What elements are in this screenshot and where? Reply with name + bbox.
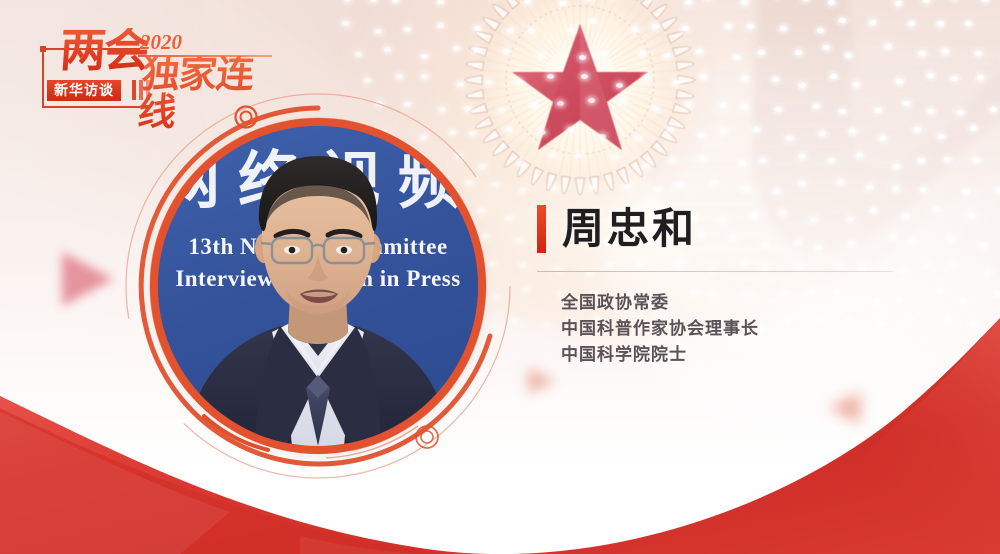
ceiling-light — [802, 0, 809, 1]
ceiling-light — [775, 107, 782, 112]
ceiling-light — [437, 23, 444, 28]
ceiling-light — [786, 136, 793, 141]
ceiling-light — [421, 54, 428, 59]
ceiling-light — [823, 45, 830, 50]
ceiling-light — [741, 76, 748, 81]
ceiling-light — [799, 83, 806, 88]
ceiling-light — [885, 44, 892, 49]
guest-title-line-2: 中国科普作家协会理事长 — [561, 316, 937, 342]
ceiling-light — [375, 29, 382, 34]
ceiling-light — [975, 51, 982, 56]
ceiling-light — [700, 156, 707, 161]
ceiling-light — [799, 154, 806, 159]
ceiling-light — [914, 127, 921, 132]
ceiling-light — [700, 74, 707, 79]
ceiling-light — [624, 184, 631, 189]
ceiling-light — [938, 134, 945, 139]
ceiling-light — [772, 77, 779, 82]
ceiling-light — [875, 108, 882, 113]
ceiling-light — [720, 129, 727, 134]
guest-titles: 全国政协常委 中国科普作家协会理事长 中国科学院院士 — [561, 290, 937, 367]
ceiling-light — [879, 136, 886, 141]
ceiling-light — [559, 1, 566, 6]
ceiling-light — [664, 53, 671, 58]
ceiling-light — [817, 28, 824, 33]
ceiling-light — [517, 161, 524, 166]
ceiling-light — [733, 55, 740, 60]
ceiling-light — [977, 75, 984, 80]
ceiling-light — [473, 48, 480, 53]
decor-triangle-right — [828, 392, 860, 424]
ceiling-light — [741, 105, 748, 110]
ceiling-light — [538, 53, 545, 58]
ceiling-light — [698, 133, 705, 138]
guest-photo: 网络视频 13th National Committee Interviewin… — [158, 126, 478, 446]
ceiling-light — [586, 0, 593, 1]
ceiling-light — [635, 136, 642, 141]
ceiling-light — [773, 189, 780, 194]
ceiling-light — [344, 0, 351, 2]
ceiling-light — [404, 27, 411, 32]
ceiling-light — [923, 0, 930, 3]
ceiling-light — [963, 189, 970, 194]
ceiling-light — [639, 51, 646, 56]
ceiling-light — [652, 106, 659, 111]
ceiling-light — [515, 79, 522, 84]
ceiling-light — [523, 287, 530, 292]
ceiling-light — [676, 182, 683, 187]
ceiling-light — [524, 0, 531, 4]
ceiling-light — [579, 55, 586, 60]
ceiling-light — [631, 27, 638, 32]
ceiling-light — [856, 153, 863, 158]
ceiling-light — [474, 26, 481, 31]
ceiling-light — [355, 52, 362, 57]
logo-year: 2020 — [140, 30, 182, 55]
ceiling-light — [507, 28, 514, 33]
ceiling-light — [893, 164, 900, 169]
ceiling-light — [927, 109, 934, 114]
ceiling-light — [830, 74, 837, 79]
ceiling-light — [819, 131, 826, 136]
guest-person-image — [158, 126, 478, 446]
ceiling-light — [780, 26, 787, 31]
ceiling-light — [550, 153, 557, 158]
ceiling-light — [611, 155, 618, 160]
ceiling-light — [948, 264, 955, 269]
ceiling-light — [970, 126, 977, 131]
ceiling-light — [342, 21, 349, 26]
ceiling-light — [654, 187, 661, 192]
ceiling-light — [720, 103, 727, 108]
name-accent-bar — [537, 205, 546, 253]
ceiling-light — [539, 130, 546, 135]
ceiling-light — [892, 186, 899, 191]
ceiling-light — [849, 129, 856, 134]
ceiling-light — [980, 243, 987, 248]
ceiling-light — [994, 291, 1000, 296]
ceiling-light — [567, 127, 574, 132]
ceiling-light — [908, 21, 915, 26]
ceiling-light — [396, 74, 403, 79]
ceiling-light — [453, 46, 460, 51]
ceiling-light — [669, 158, 676, 163]
ceiling-light — [869, 20, 876, 25]
ceiling-light — [392, 0, 399, 3]
ceiling-light — [747, 24, 754, 29]
ceiling-light — [519, 188, 526, 193]
ceiling-light — [968, 213, 975, 218]
ceiling-light — [903, 101, 910, 106]
logo-network-badge: 新华访谈 — [47, 80, 121, 101]
ceiling-light — [813, 104, 820, 109]
ceiling-light — [753, 127, 760, 132]
ceiling-light — [920, 187, 927, 192]
ceiling-light — [837, 180, 844, 185]
decor-triangle-left — [62, 252, 114, 306]
ceiling-light — [937, 289, 944, 294]
ceiling-light — [552, 186, 559, 191]
ceiling-light — [599, 134, 606, 139]
ceiling-light — [759, 158, 766, 163]
ceiling-light — [795, 50, 802, 55]
ceiling-light — [947, 236, 954, 241]
ceiling-light — [528, 28, 535, 33]
ceiling-light — [896, 79, 903, 84]
ceiling-light — [853, 82, 860, 87]
ceiling-light — [384, 47, 391, 52]
ceiling-light — [557, 101, 564, 106]
broadcast-lower-third-screen: 两会 2020 独家连线 新华访谈 — [0, 0, 1000, 554]
ceiling-light — [741, 186, 748, 191]
ceiling-light — [918, 158, 925, 163]
ceiling-light — [619, 99, 626, 104]
info-divider — [537, 271, 893, 272]
ceiling-light — [696, 49, 703, 54]
ceiling-light — [503, 49, 510, 54]
guest-info-block: 周忠和 全国政协常委 中国科普作家协会理事长 中国科学院院士 — [537, 205, 937, 367]
guest-name: 周忠和 — [562, 208, 697, 250]
ceiling-light — [965, 21, 972, 26]
ceiling-light — [673, 80, 680, 85]
ceiling-light — [839, 18, 846, 23]
guest-title-line-3: 中国科学院院士 — [561, 342, 937, 368]
ceiling-light — [364, 78, 371, 83]
ceiling-light — [845, 53, 852, 58]
ceiling-light — [685, 102, 692, 107]
ceiling-light — [957, 110, 964, 115]
ceiling-light — [711, 180, 718, 185]
ceiling-light — [828, 158, 835, 163]
ceiling-light — [739, 161, 746, 166]
ceiling-light — [421, 74, 428, 79]
ceiling-light — [919, 51, 926, 56]
ceiling-light — [581, 74, 588, 79]
ceiling-light — [725, 24, 732, 29]
ceiling-light — [652, 24, 659, 29]
ceiling-light — [741, 0, 748, 5]
ceiling-light — [973, 158, 980, 163]
guest-title-line-1: 全国政协常委 — [561, 290, 937, 316]
ceiling-light — [616, 83, 623, 88]
guest-portrait-frame: 网络视频 13th National Committee Interviewin… — [118, 86, 518, 486]
ceiling-light — [589, 19, 596, 24]
ceiling-light — [485, 80, 492, 85]
ceiling-light — [437, 0, 444, 4]
ceiling-light — [547, 74, 554, 79]
ceiling-light — [588, 98, 595, 103]
ceiling-light — [944, 157, 951, 162]
ceiling-light — [568, 28, 575, 33]
ceiling-light — [588, 185, 595, 190]
ceiling-light — [531, 103, 538, 108]
ceiling-light — [798, 181, 805, 186]
ceiling-light — [828, 0, 835, 5]
ceiling-light — [951, 76, 958, 81]
ceiling-light — [667, 127, 674, 132]
ceiling-light — [839, 109, 846, 114]
ceiling-light — [937, 21, 944, 26]
ceiling-light — [990, 107, 997, 112]
ceiling-light — [601, 51, 608, 56]
ceiling-light — [685, 0, 692, 5]
ceiling-light — [520, 263, 527, 268]
ceiling-light — [927, 73, 934, 78]
ceiling-light — [895, 1, 902, 6]
ceiling-light — [984, 271, 991, 276]
decor-triangle-center — [528, 368, 556, 394]
ceiling-light — [682, 26, 689, 31]
ceiling-light — [996, 187, 1000, 192]
ceiling-light — [758, 50, 765, 55]
ceiling-light — [575, 153, 582, 158]
ceiling-light — [644, 75, 651, 80]
ceiling-light — [942, 49, 949, 54]
ceiling-light — [370, 0, 377, 2]
guest-name-row: 周忠和 — [537, 205, 937, 253]
ceiling-light — [643, 163, 650, 168]
logo-main-title: 两会 — [58, 28, 149, 74]
ceiling-light — [866, 185, 873, 190]
ceiling-light — [982, 0, 989, 2]
